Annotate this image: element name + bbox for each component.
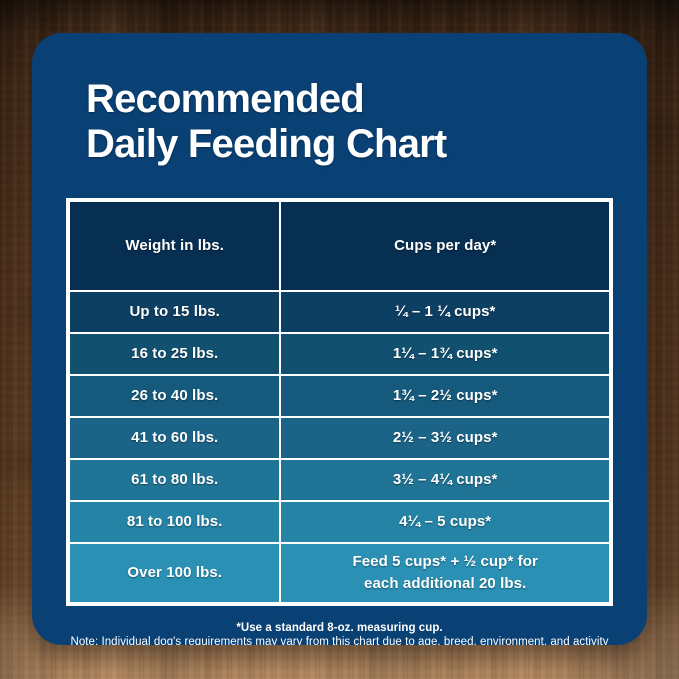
- footnote-measuring-cup: *Use a standard 8-oz. measuring cup.: [58, 622, 621, 634]
- table-row: Up to 15 lbs. ¼ – 1 ¼ cups*: [70, 292, 609, 332]
- table-row: 81 to 100 lbs. 4¼ – 5 cups*: [70, 502, 609, 542]
- table-row: 16 to 25 lbs. 1¼ – 1¾ cups*: [70, 334, 609, 374]
- cell-weight: 16 to 25 lbs.: [70, 334, 279, 374]
- footnotes: *Use a standard 8-oz. measuring cup. Not…: [32, 622, 647, 645]
- column-header-cups: Cups per day*: [281, 202, 609, 290]
- cell-cups: 1¼ – 1¾ cups*: [281, 334, 609, 374]
- cell-weight: 26 to 40 lbs.: [70, 376, 279, 416]
- feeding-table-container: Weight in lbs. Cups per day* Up to 15 lb…: [66, 198, 613, 606]
- cell-weight: 41 to 60 lbs.: [70, 418, 279, 458]
- cell-cups: 3½ – 4¼ cups*: [281, 460, 609, 500]
- column-header-weight: Weight in lbs.: [70, 202, 279, 290]
- cell-cups: 4¼ – 5 cups*: [281, 502, 609, 542]
- table-row-over-100: Over 100 lbs. Feed 5 cups* + ½ cup* for …: [70, 544, 609, 602]
- cell-weight: Over 100 lbs.: [70, 544, 279, 602]
- cell-cups: ¼ – 1 ¼ cups*: [281, 292, 609, 332]
- cell-cups: 2½ – 3½ cups*: [281, 418, 609, 458]
- cell-cups-line-2: each additional 20 lbs.: [281, 573, 609, 594]
- page-title: Recommended Daily Feeding Chart: [32, 77, 647, 167]
- cell-weight: 81 to 100 lbs.: [70, 502, 279, 542]
- table-row: 41 to 60 lbs. 2½ – 3½ cups*: [70, 418, 609, 458]
- cell-cups-line-1: Feed 5 cups* + ½ cup* for: [281, 551, 609, 572]
- cell-weight: Up to 15 lbs.: [70, 292, 279, 332]
- cell-weight: 61 to 80 lbs.: [70, 460, 279, 500]
- table-row: 26 to 40 lbs. 1¾ – 2½ cups*: [70, 376, 609, 416]
- title-line-2: Daily Feeding Chart: [86, 122, 593, 167]
- table-header-row: Weight in lbs. Cups per day*: [70, 202, 609, 290]
- footnote-note-line-1: Note: Individual dog's requirements may …: [58, 634, 621, 645]
- feeding-table: Weight in lbs. Cups per day* Up to 15 lb…: [68, 200, 611, 604]
- feeding-chart-card: Recommended Daily Feeding Chart Weight i…: [32, 33, 647, 645]
- title-line-1: Recommended: [86, 77, 593, 122]
- table-row: 61 to 80 lbs. 3½ – 4¼ cups*: [70, 460, 609, 500]
- cell-cups: Feed 5 cups* + ½ cup* for each additiona…: [281, 544, 609, 602]
- cell-cups: 1¾ – 2½ cups*: [281, 376, 609, 416]
